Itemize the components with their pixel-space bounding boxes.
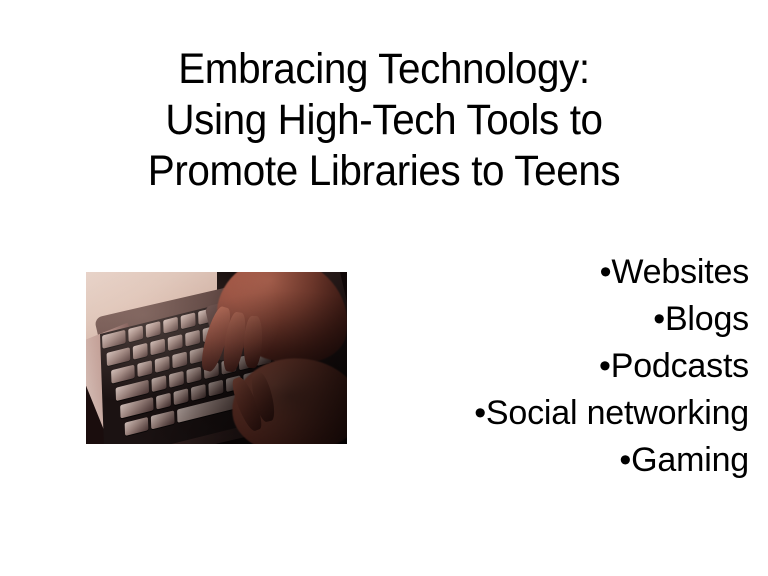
slide-bullet-list: •Websites •Blogs •Podcasts •Social netwo… — [370, 249, 749, 484]
bullet-item-blogs: •Blogs — [370, 296, 749, 343]
title-line-3: Promote Libraries to Teens — [55, 146, 713, 197]
bullet-label: Gaming — [631, 441, 749, 479]
bullet-label: Social networking — [486, 394, 749, 432]
bullet-item-gaming: •Gaming — [370, 437, 749, 484]
bullet-marker-icon: • — [599, 347, 611, 385]
bullet-label: Podcasts — [611, 347, 749, 385]
title-line-2: Using High-Tech Tools to — [55, 95, 713, 146]
bullet-label: Websites — [611, 253, 749, 291]
bullet-marker-icon: • — [600, 253, 612, 291]
photo-composition — [86, 272, 347, 444]
bullet-marker-icon: • — [653, 300, 665, 338]
title-line-1: Embracing Technology: — [55, 44, 713, 95]
bullet-marker-icon: • — [619, 441, 631, 479]
slide-title: Embracing Technology: Using High-Tech To… — [55, 44, 713, 197]
bullet-item-podcasts: •Podcasts — [370, 343, 749, 390]
bullet-label: Blogs — [665, 300, 749, 338]
presentation-slide: Embracing Technology: Using High-Tech To… — [0, 0, 768, 576]
bullet-item-websites: •Websites — [370, 249, 749, 296]
bullet-marker-icon: • — [474, 394, 486, 432]
hands-typing-on-laptop-photo — [86, 272, 347, 444]
bullet-item-social-networking: •Social networking — [370, 390, 749, 437]
